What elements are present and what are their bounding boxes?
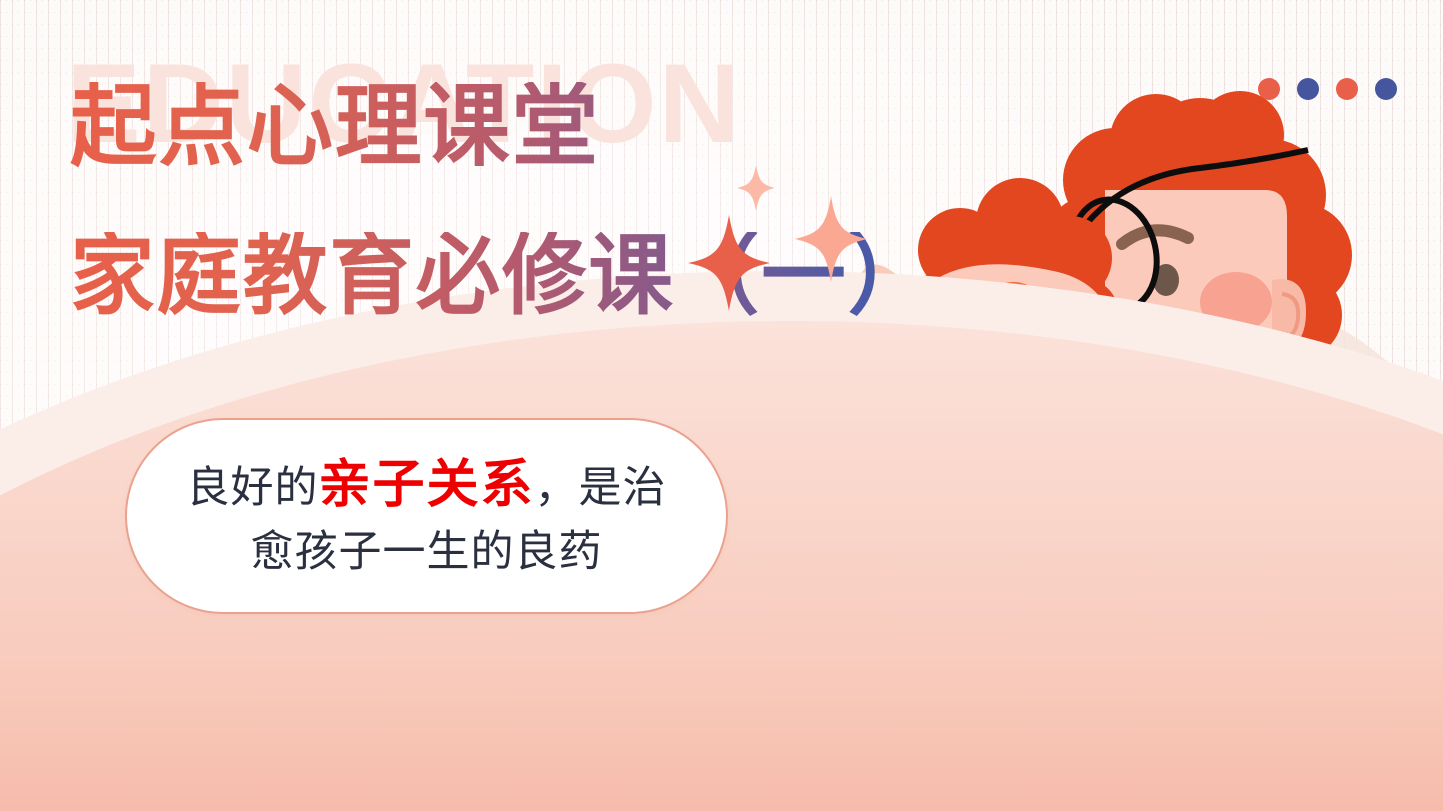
subtitle-line-2: 愈孩子一生的良药 [250,527,602,577]
subtitle-pill: 良好的亲子关系，是治 愈孩子一生的良药 [125,418,728,614]
sparkle-large-icon [688,215,770,311]
decorative-dots-group [1258,78,1397,100]
subtitle-part-1: 良好的 [186,463,318,513]
sparkle-medium-icon [795,196,867,282]
title-line-1: 起点心理课堂 [70,82,934,172]
dot-1-icon [1258,78,1280,100]
dot-2-icon [1297,78,1319,100]
subtitle-text: 良好的亲子关系，是治 愈孩子一生的良药 [164,449,688,584]
sparkle-small-icon [737,165,775,211]
subtitle-highlight: 亲子关系 [318,455,534,515]
subtitle-part-2: ，是治 [535,463,667,513]
slide-canvas: EDUCATION 起点心理课堂 家庭教育必修课（一） 良好的亲子关系，是治 愈… [0,0,1443,811]
dot-3-icon [1336,78,1358,100]
dot-4-icon [1375,78,1397,100]
